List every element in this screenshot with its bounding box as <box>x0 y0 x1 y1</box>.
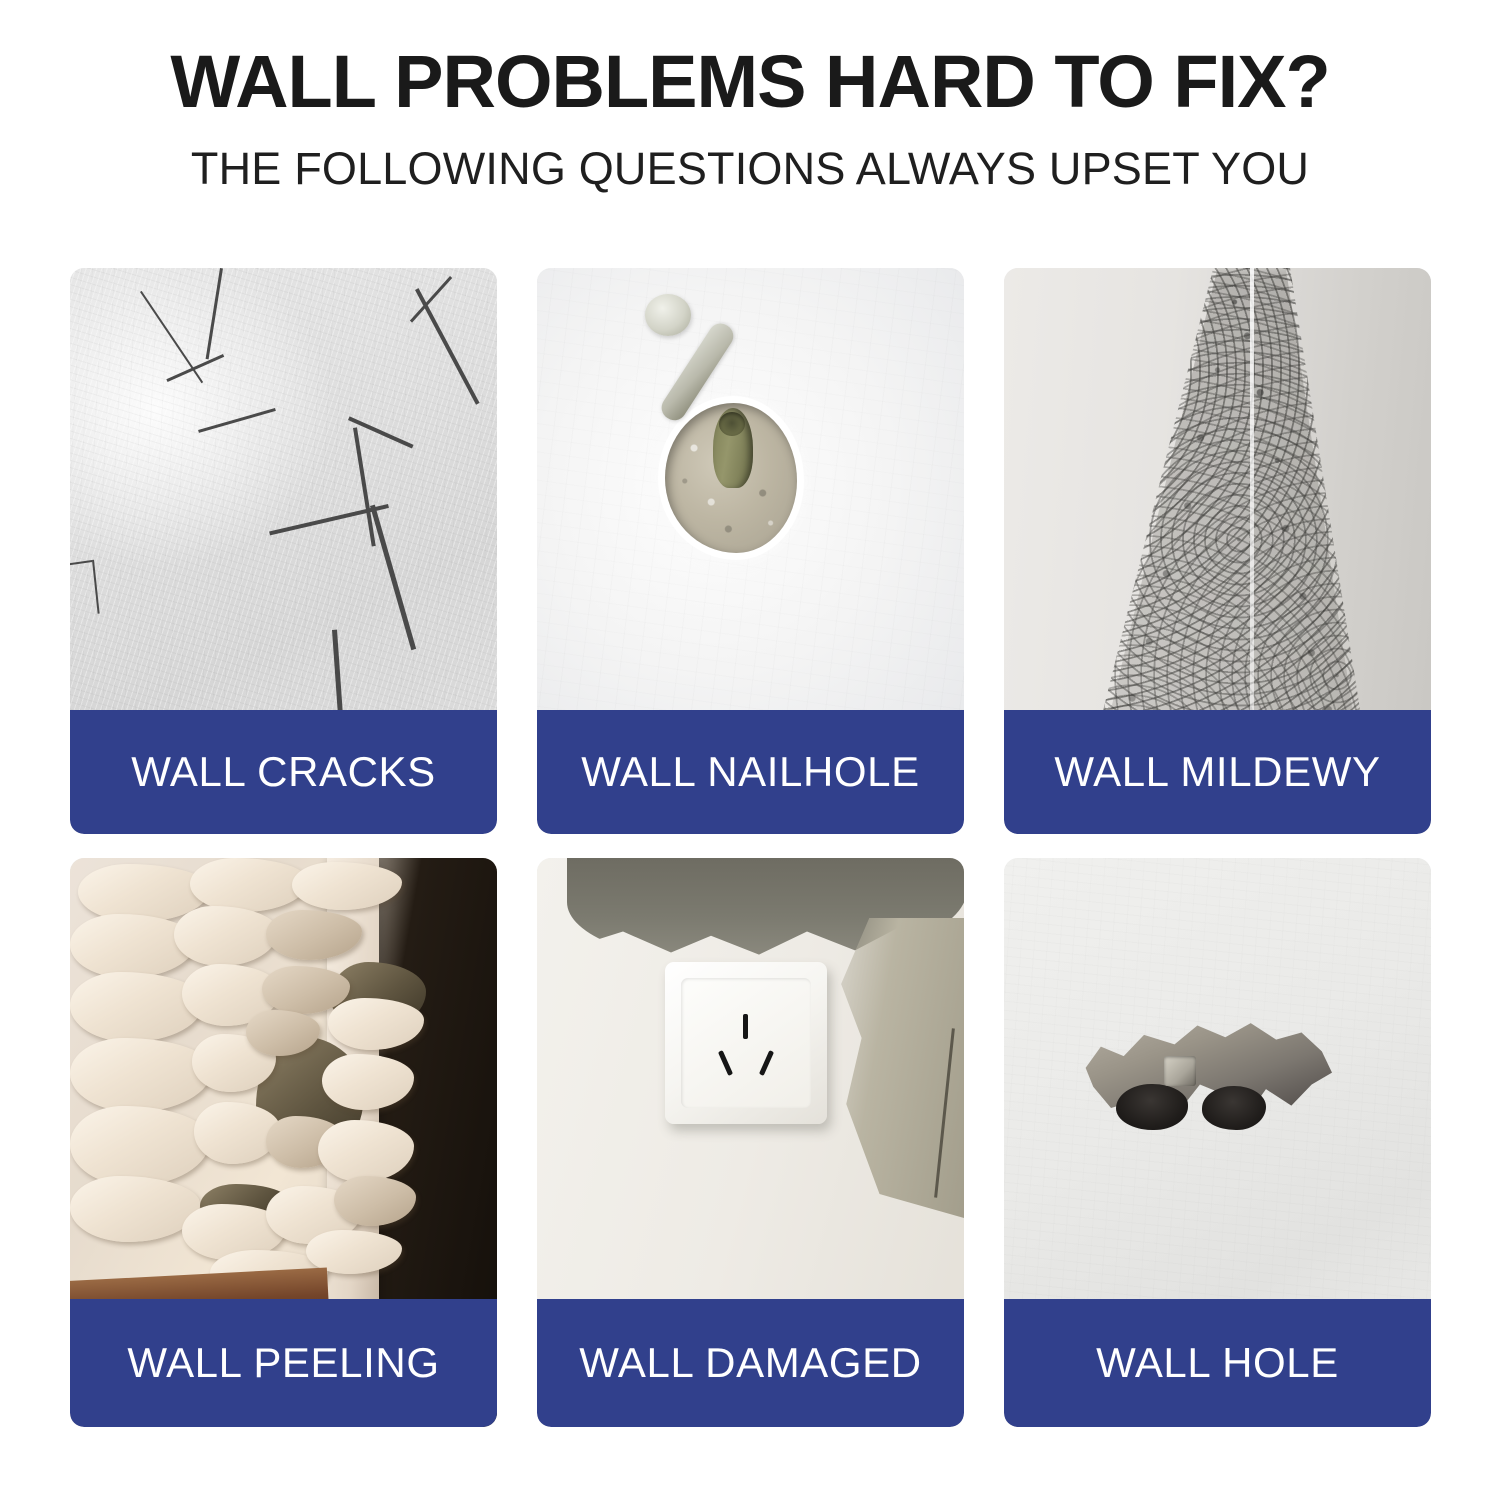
socket-slot-left <box>718 1050 733 1076</box>
card-label: WALL DAMAGED <box>579 1342 921 1384</box>
paint-flake <box>70 1176 200 1242</box>
exposed-metal-fixture <box>1164 1056 1196 1086</box>
card-label: WALL NAILHOLE <box>581 751 919 793</box>
problem-card-wall-damaged[interactable]: WALL DAMAGED <box>537 858 964 1427</box>
hole-cavity-right <box>1202 1086 1266 1130</box>
paint-flake <box>190 858 308 912</box>
page-subtitle: THE FOLLOWING QUESTIONS ALWAYS UPSET YOU <box>0 144 1500 194</box>
header: WALL PROBLEMS HARD TO FIX? THE FOLLOWING… <box>0 0 1500 193</box>
problem-card-wall-cracks[interactable]: WALL CRACKS <box>70 268 497 834</box>
paint-flake <box>70 1106 210 1186</box>
card-label-bar: WALL HOLE <box>1004 1299 1431 1427</box>
paint-flake <box>70 1038 212 1112</box>
card-label-bar: WALL MILDEWY <box>1004 710 1431 834</box>
problem-card-wall-hole[interactable]: WALL HOLE <box>1004 858 1431 1427</box>
card-label: WALL MILDEWY <box>1054 751 1380 793</box>
card-label: WALL CRACKS <box>131 751 436 793</box>
socket-slot-right <box>759 1050 774 1076</box>
card-label-bar: WALL PEELING <box>70 1299 497 1427</box>
problem-card-wall-mildewy[interactable]: WALL MILDEWY <box>1004 268 1431 834</box>
socket-faceplate <box>681 978 811 1108</box>
problem-cards-grid: WALL CRACKS WALL NAILHOLE <box>70 268 1430 1427</box>
problem-card-wall-nailhole[interactable]: WALL NAILHOLE <box>537 268 964 834</box>
screw-head <box>645 294 691 336</box>
product-infographic-page: WALL PROBLEMS HARD TO FIX? THE FOLLOWING… <box>0 0 1500 1500</box>
card-label-bar: WALL NAILHOLE <box>537 710 964 834</box>
problem-card-wall-peeling[interactable]: WALL PEELING <box>70 858 497 1427</box>
card-label-bar: WALL DAMAGED <box>537 1299 964 1427</box>
paint-flake <box>174 906 278 966</box>
card-label-bar: WALL CRACKS <box>70 710 497 834</box>
hole-cavity-left <box>1116 1084 1188 1130</box>
page-title: WALL PROBLEMS HARD TO FIX? <box>0 42 1500 122</box>
power-socket[interactable] <box>665 962 827 1124</box>
card-label: WALL PEELING <box>127 1342 439 1384</box>
wall-anchor <box>713 408 753 488</box>
crumbling-plaster-region <box>836 918 964 1218</box>
card-label: WALL HOLE <box>1096 1342 1339 1384</box>
socket-slot-ground <box>743 1014 748 1039</box>
